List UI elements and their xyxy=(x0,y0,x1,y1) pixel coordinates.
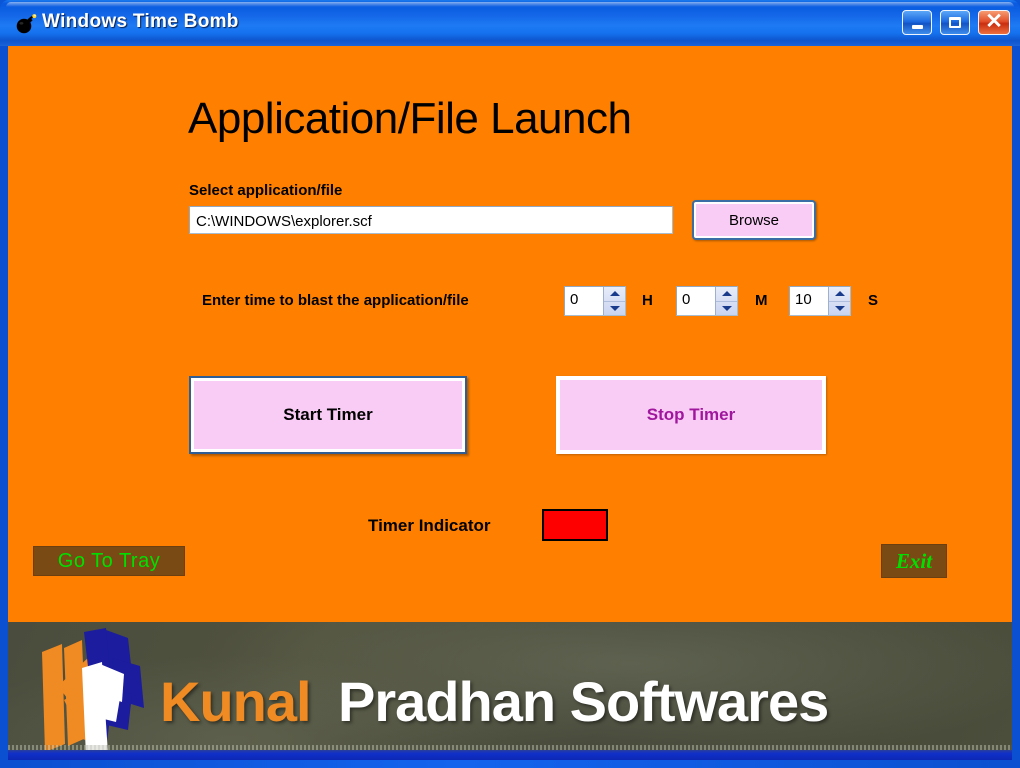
client-area: Application/File Launch Select applicati… xyxy=(8,46,1012,760)
minutes-stepper[interactable]: 0 xyxy=(676,286,738,316)
banner-streak xyxy=(8,745,1012,750)
brand-name-secondary: Pradhan Softwares xyxy=(338,669,828,734)
chevron-up-icon xyxy=(722,291,732,296)
seconds-unit-label: S xyxy=(868,292,878,309)
start-timer-button[interactable]: Start Timer xyxy=(189,376,467,454)
maximize-button[interactable] xyxy=(940,10,970,35)
minutes-stepper-buttons xyxy=(715,287,737,315)
go-to-tray-button[interactable]: Go To Tray xyxy=(33,546,185,576)
go-to-tray-label: Go To Tray xyxy=(58,550,160,573)
seconds-decrement-button[interactable] xyxy=(829,302,850,316)
application-window: Windows Time Bomb ✕ Application/File Lau… xyxy=(0,0,1020,768)
chevron-down-icon xyxy=(722,306,732,311)
hours-decrement-button[interactable] xyxy=(604,302,625,316)
chevron-down-icon xyxy=(835,306,845,311)
hours-stepper-buttons xyxy=(603,287,625,315)
seconds-stepper[interactable]: 10 xyxy=(789,286,851,316)
file-path-input[interactable] xyxy=(189,206,673,234)
brand-name-primary: Kunal xyxy=(160,669,311,734)
chevron-up-icon xyxy=(835,291,845,296)
hours-stepper[interactable]: 0 xyxy=(564,286,626,316)
minimize-button[interactable] xyxy=(902,10,932,35)
minutes-unit-label: M xyxy=(755,292,768,309)
title-bar: Windows Time Bomb ✕ xyxy=(0,0,1020,46)
browse-button-label: Browse xyxy=(729,212,779,229)
exit-button-label: Exit xyxy=(896,549,932,574)
branding-banner: Kunal Pradhan Softwares xyxy=(8,622,1012,760)
close-button[interactable]: ✕ xyxy=(978,10,1010,35)
timer-indicator-label: Timer Indicator xyxy=(368,516,491,536)
minutes-decrement-button[interactable] xyxy=(716,302,737,316)
timer-indicator-light xyxy=(542,509,608,541)
close-icon: ✕ xyxy=(979,11,1009,34)
maximize-icon xyxy=(941,11,969,34)
hours-unit-label: H xyxy=(642,292,653,309)
chevron-down-icon xyxy=(610,306,620,311)
bomb-icon xyxy=(14,12,38,34)
seconds-value: 10 xyxy=(795,291,812,308)
stop-timer-label: Stop Timer xyxy=(647,405,735,425)
start-timer-label: Start Timer xyxy=(283,405,372,425)
kp-monogram-logo xyxy=(28,626,156,758)
hours-increment-button[interactable] xyxy=(604,287,625,302)
window-title: Windows Time Bomb xyxy=(42,11,239,33)
exit-button[interactable]: Exit xyxy=(881,544,947,578)
time-entry-label: Enter time to blast the application/file xyxy=(202,292,469,309)
seconds-increment-button[interactable] xyxy=(829,287,850,302)
minimize-icon xyxy=(903,11,931,34)
stop-timer-button[interactable]: Stop Timer xyxy=(556,376,826,454)
page-title: Application/File Launch xyxy=(188,94,631,144)
seconds-stepper-buttons xyxy=(828,287,850,315)
hours-value: 0 xyxy=(570,291,578,308)
file-select-label: Select application/file xyxy=(189,182,342,199)
browse-button[interactable]: Browse xyxy=(692,200,816,240)
minutes-increment-button[interactable] xyxy=(716,287,737,302)
chevron-up-icon xyxy=(610,291,620,296)
minutes-value: 0 xyxy=(682,291,690,308)
